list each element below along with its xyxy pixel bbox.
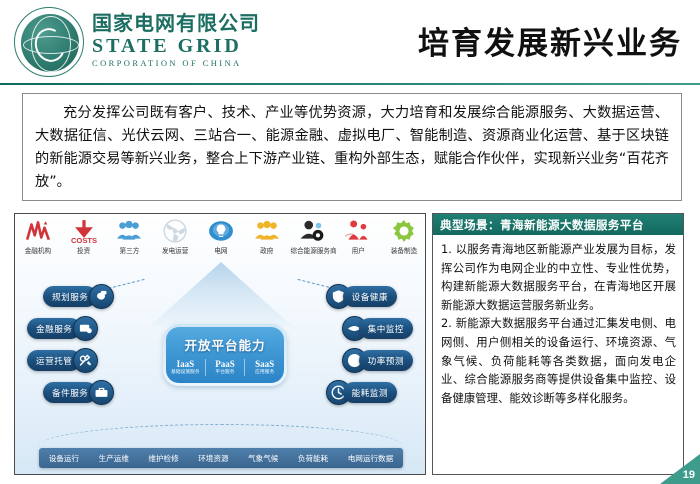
stakeholder-item: 电网	[199, 216, 243, 255]
stakeholder-label: 装备制造	[382, 247, 426, 255]
platform-diagram: 金融机构COSTS投资第三方发电运营电网政府综合能源服务商用户装备制造 开放平台…	[14, 213, 426, 475]
scenario-item: 1. 以服务青海地区新能源产业发展为目标，发挥公司作为电网企业的中立性、专业性优…	[441, 240, 676, 314]
stakeholder-item: 发电运营	[153, 216, 197, 255]
chart-line-icon	[16, 216, 60, 246]
data-source-tag: 电网运行数据	[348, 453, 394, 464]
brain-idea-icon	[89, 284, 114, 309]
stakeholder-label: 第三方	[107, 247, 151, 255]
core-service-item: SaaS应用服务	[245, 359, 284, 376]
stakeholder-label: 综合能源服务商	[290, 247, 334, 255]
stakeholder-label: 发电运营	[153, 247, 197, 255]
intro-box: 充分发挥公司既有客户、技术、产业等优势资源，大力培育和发展综合能源服务、大数据运…	[22, 93, 682, 201]
people-group-icon	[245, 216, 289, 246]
cost-arrow-down-icon: COSTS	[62, 216, 106, 246]
logo-company-name-cn: 国家电网有限公司	[92, 11, 260, 35]
scenario-panel: 典型场景：青海新能源大数据服务平台 1. 以服务青海地区新能源产业发展为目标，发…	[432, 213, 684, 475]
service-pill[interactable]: 运营托管	[27, 350, 98, 371]
stakeholder-label: 投资	[62, 247, 106, 255]
scenario-header: 典型场景：青海新能源大数据服务平台	[433, 214, 683, 235]
service-pill[interactable]: 能耗监测	[326, 382, 397, 403]
stakeholder-row: 金融机构COSTS投资第三方发电运营电网政府综合能源服务商用户装备制造	[15, 216, 426, 268]
data-source-tag: 气象气候	[248, 453, 278, 464]
core-service-item: IaaS基础设施服务	[166, 359, 206, 376]
stakeholder-label: 政府	[245, 247, 289, 255]
money-gear-icon: $	[73, 316, 98, 341]
stakeholder-item: COSTS投资	[62, 216, 106, 255]
service-pill-label: 能耗监测	[352, 387, 388, 399]
stakeholder-item: 金融机构	[16, 216, 60, 255]
people-group-icon	[107, 216, 151, 246]
stakeholder-label: 电网	[199, 247, 243, 255]
service-pill[interactable]: 备件服务	[43, 382, 114, 403]
service-pill[interactable]: 功率预测	[342, 350, 413, 371]
family-icon	[336, 216, 380, 246]
wind-turbine-icon	[153, 216, 197, 246]
power-bulb-icon	[199, 216, 243, 246]
data-source-tag: 生产运维	[99, 453, 129, 464]
logo-text-block: 国家电网有限公司 STATE GRID CORPORATION OF CHINA	[92, 11, 260, 69]
stakeholder-item: 综合能源服务商	[290, 216, 334, 255]
data-source-tag: 负荷能耗	[298, 453, 328, 464]
service-pill-label: 设备健康	[352, 291, 388, 303]
service-pill-label: 运营托管	[36, 355, 72, 367]
logo-seal-ring	[14, 7, 84, 77]
scenario-body: 1. 以服务青海地区新能源产业发展为目标，发挥公司作为电网企业的中立性、专业性优…	[433, 235, 683, 411]
service-pill[interactable]: 金融服务$	[27, 318, 98, 339]
page-header: 国家电网有限公司 STATE GRID CORPORATION OF CHINA…	[0, 0, 700, 84]
state-grid-logo	[14, 7, 86, 79]
logo-globe-icon	[21, 14, 79, 72]
page-title: 培育发展新兴业务	[418, 18, 682, 63]
stakeholder-item: 政府	[245, 216, 289, 255]
stakeholder-label: 金融机构	[16, 247, 60, 255]
person-gear-icon	[290, 216, 334, 246]
page-number: 19	[683, 469, 695, 481]
core-service-en: PaaS	[206, 359, 245, 369]
data-source-tagbar: 设备运行生产运维维护检修环境资源气象气候负荷能耗电网运行数据	[39, 448, 403, 468]
core-service-list: IaaS基础设施服务PaaS平台服务SaaS应用服务	[166, 359, 284, 376]
service-pill[interactable]: 规划服务	[43, 286, 114, 307]
scenario-item: 2. 新能源大数据服务平台通过汇集发电侧、电网侧、用户侧相关的设备运行、环境资源…	[441, 314, 676, 407]
toolbox-icon	[89, 380, 114, 405]
service-pill[interactable]: 集中监控	[342, 318, 413, 339]
scenario-header-title: 典型场景：青海新能源大数据服务平台	[440, 217, 644, 233]
service-pill-label: 金融服务	[36, 323, 72, 335]
data-source-tag: 维护检修	[148, 453, 178, 464]
stakeholder-item: 装备制造	[382, 216, 426, 255]
core-service-en: IaaS	[166, 359, 205, 369]
header-divider	[0, 83, 700, 85]
wrench-screwdriver-icon	[73, 348, 98, 373]
service-pill-label: 集中监控	[368, 323, 404, 335]
core-service-cn: 平台服务	[206, 369, 245, 376]
service-pill[interactable]: 设备健康	[326, 286, 397, 307]
open-platform-capability-box: 开放平台能力 IaaS基础设施服务PaaS平台服务SaaS应用服务	[163, 324, 287, 386]
service-pill-label: 功率预测	[368, 355, 404, 367]
core-service-en: SaaS	[245, 359, 284, 369]
data-source-tag: 环境资源	[198, 453, 228, 464]
logo-company-subtitle-en: CORPORATION OF CHINA	[92, 57, 260, 69]
core-title: 开放平台能力	[184, 335, 265, 354]
core-service-cn: 基础设施服务	[166, 369, 205, 376]
gear-icon	[382, 216, 426, 246]
logo-c-mark	[30, 24, 69, 66]
core-service-item: PaaS平台服务	[206, 359, 246, 376]
svg-text:COSTS: COSTS	[71, 236, 97, 244]
stakeholder-label: 用户	[336, 247, 380, 255]
intro-paragraph: 充分发挥公司既有客户、技术、产业等优势资源，大力培育和发展综合能源服务、大数据运…	[35, 102, 669, 194]
stakeholder-item: 用户	[336, 216, 380, 255]
data-source-tag: 设备运行	[49, 453, 79, 464]
service-pill-label: 备件服务	[52, 387, 88, 399]
core-service-cn: 应用服务	[245, 369, 284, 376]
service-pill-label: 规划服务	[52, 291, 88, 303]
stakeholder-item: 第三方	[107, 216, 151, 255]
logo-company-name-en: STATE GRID	[92, 35, 260, 57]
